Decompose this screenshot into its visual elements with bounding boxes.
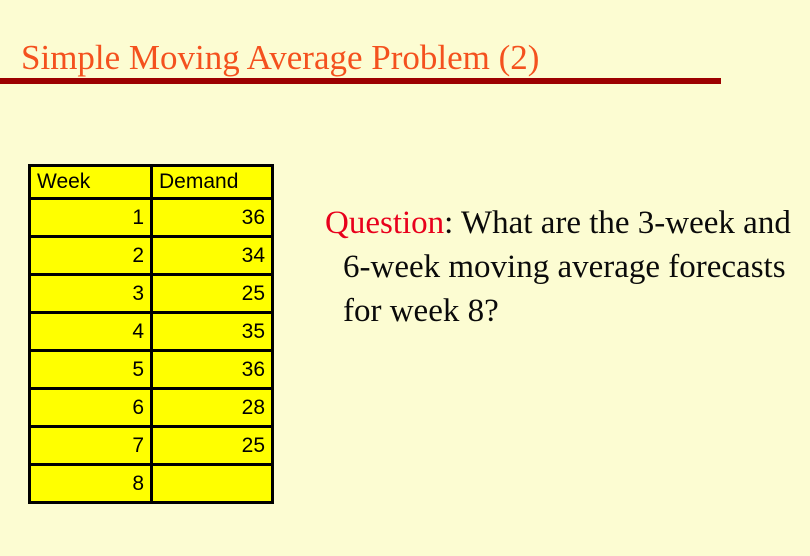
- table-row: 5 36: [30, 351, 273, 389]
- cell-demand: 25: [152, 427, 273, 465]
- table-row: 8: [30, 465, 273, 503]
- table-row: 7 25: [30, 427, 273, 465]
- table-header-row: Week Demand: [30, 166, 273, 199]
- cell-week: 8: [30, 465, 152, 503]
- cell-demand: 28: [152, 389, 273, 427]
- cell-demand: 25: [152, 275, 273, 313]
- table-row: 3 25: [30, 275, 273, 313]
- cell-week: 4: [30, 313, 152, 351]
- column-header-demand: Demand: [152, 166, 273, 199]
- cell-demand: 34: [152, 237, 273, 275]
- demand-table: Week Demand 1 36 2 34 3 25 4 35 5 36 6 2…: [28, 164, 274, 504]
- cell-demand: [152, 465, 273, 503]
- column-header-week: Week: [30, 166, 152, 199]
- cell-week: 6: [30, 389, 152, 427]
- cell-demand: 36: [152, 351, 273, 389]
- question-separator: :: [444, 205, 461, 241]
- title-underline-rule: [0, 78, 721, 84]
- page-title: Simple Moving Average Problem (2): [21, 36, 539, 80]
- question-text-block: Question: What are the 3-week and 6-week…: [325, 201, 810, 333]
- cell-week: 2: [30, 237, 152, 275]
- cell-week: 7: [30, 427, 152, 465]
- question-label: Question: [325, 205, 444, 241]
- table-row: 4 35: [30, 313, 273, 351]
- cell-demand: 36: [152, 199, 273, 237]
- table-row: 6 28: [30, 389, 273, 427]
- cell-demand: 35: [152, 313, 273, 351]
- table-row: 1 36: [30, 199, 273, 237]
- cell-week: 5: [30, 351, 152, 389]
- cell-week: 1: [30, 199, 152, 237]
- table-row: 2 34: [30, 237, 273, 275]
- cell-week: 3: [30, 275, 152, 313]
